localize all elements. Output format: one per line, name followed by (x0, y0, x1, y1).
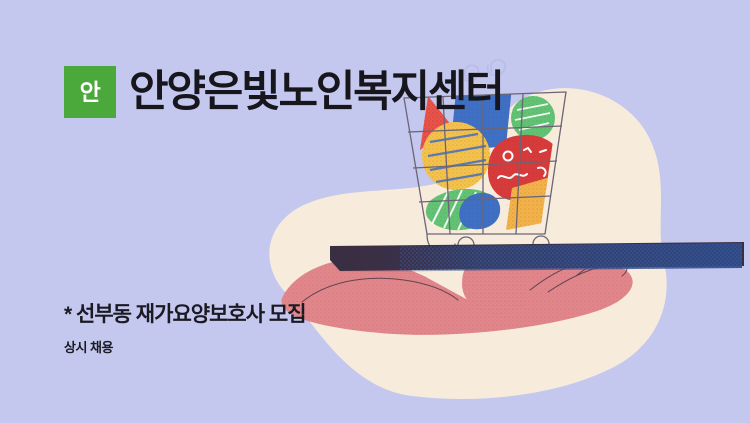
tagline-sub: 상시 채용 (64, 340, 306, 356)
tagline-main: * 선부동 재가요양보호사 모집 (64, 302, 306, 327)
brand-row: 안 안양은빛노인복지센터 (64, 66, 503, 118)
page-title: 안양은빛노인복지센터 (129, 71, 503, 114)
brand-badge: 안 (64, 66, 116, 118)
recruitment-banner: 안 안양은빛노인복지센터 * 선부동 재가요양보호사 모집 상시 채용 (0, 0, 750, 423)
brand-badge-character: 안 (80, 81, 101, 104)
tagline-block: * 선부동 재가요양보호사 모집 상시 채용 (64, 302, 306, 356)
text-layer: 안 안양은빛노인복지센터 * 선부동 재가요양보호사 모집 상시 채용 (0, 0, 750, 423)
